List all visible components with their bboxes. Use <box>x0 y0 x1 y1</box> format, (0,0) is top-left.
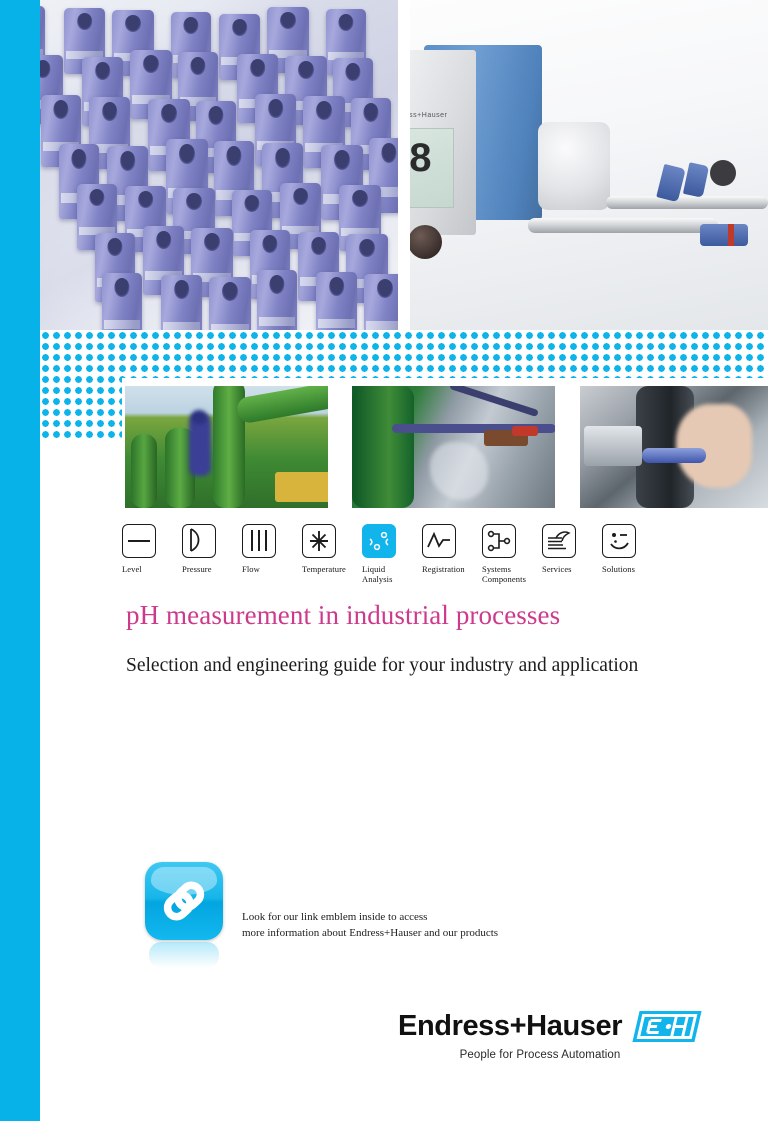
chain-link-icon <box>145 862 223 940</box>
temperature-icon <box>302 524 336 558</box>
pipe-elbow <box>236 386 328 424</box>
hand <box>676 404 752 488</box>
structure-haze <box>430 442 488 500</box>
level-icon <box>122 524 156 558</box>
assembly-rod-2 <box>606 196 768 209</box>
sensor-cap <box>316 272 357 330</box>
halftone-dot-corner <box>40 330 122 442</box>
logo-wordmark: Endress+Hauser <box>398 1010 622 1043</box>
retractable-assembly-head <box>538 122 610 210</box>
assembly-fitting <box>584 426 642 466</box>
sensor-cap <box>161 275 202 330</box>
company-logo: Endress+Hauser People for Process Automa… <box>398 1010 688 1061</box>
product-area-icon-row: Level Pressure Flow Temperatur <box>122 524 682 586</box>
strip-photo-green-pipework <box>125 386 328 508</box>
assembly-rod-1 <box>528 218 718 233</box>
sensor-cap <box>257 270 297 330</box>
strip-photo-tank-piping <box>352 386 555 508</box>
worker-helmet <box>191 410 207 424</box>
blue-sensor <box>642 448 706 463</box>
assembly-blue-cap-3 <box>700 224 748 246</box>
link-emblem-line-2: more information about Endress+Hauser an… <box>242 926 562 942</box>
sensor-cap <box>364 274 398 330</box>
icon-cell-solutions[interactable]: Solutions <box>602 524 674 574</box>
sensor-cap <box>102 273 142 330</box>
transmitter-display-value: 68 <box>410 136 431 181</box>
solutions-icon <box>602 524 636 558</box>
transmitter-front-panel: Endress+Hauser 68 <box>410 50 476 235</box>
diagonal-conduit <box>449 386 539 417</box>
transmitter-brand-label: Endress+Hauser <box>410 112 447 119</box>
assembly-blue-cap-2 <box>683 162 709 197</box>
liquid-analysis-icon <box>362 524 396 558</box>
sensor-cap <box>209 277 251 330</box>
hero-photo-sensor-caps <box>40 0 398 330</box>
left-accent-bar <box>0 0 40 1121</box>
yellow-equipment <box>275 472 328 502</box>
services-icon <box>542 524 576 558</box>
emblem-reflection <box>149 942 219 968</box>
icon-label-solutions: Solutions <box>602 564 674 574</box>
assembly-dark-cap <box>710 160 736 186</box>
hero-photo-transmitter: Endress+Hauser 68 <box>410 0 768 330</box>
page-subtitle: Selection and engineering guide for your… <box>126 650 646 681</box>
halftone-dot-band <box>40 330 768 378</box>
registration-icon <box>422 524 456 558</box>
eh-logo-mark <box>633 1011 702 1042</box>
tank-1 <box>131 434 157 508</box>
transmitter-knob <box>410 225 442 259</box>
link-emblem-line-1: Look for our link emblem inside to acces… <box>242 910 562 926</box>
assembly-red-band <box>728 224 734 246</box>
red-handle <box>512 426 538 436</box>
flow-icon <box>242 524 276 558</box>
link-emblem-block: Look for our link emblem inside to acces… <box>145 862 565 962</box>
green-tank <box>352 386 414 508</box>
link-emblem-text: Look for our link emblem inside to acces… <box>242 910 562 941</box>
hero-photo-band: Endress+Hauser 68 <box>40 0 768 330</box>
systems-components-icon <box>482 524 516 558</box>
strip-photo-hand-sensor <box>580 386 768 508</box>
logo-tagline: People for Process Automation <box>398 1049 688 1061</box>
pressure-icon <box>182 524 216 558</box>
page-title: pH measurement in industrial processes <box>126 600 746 631</box>
